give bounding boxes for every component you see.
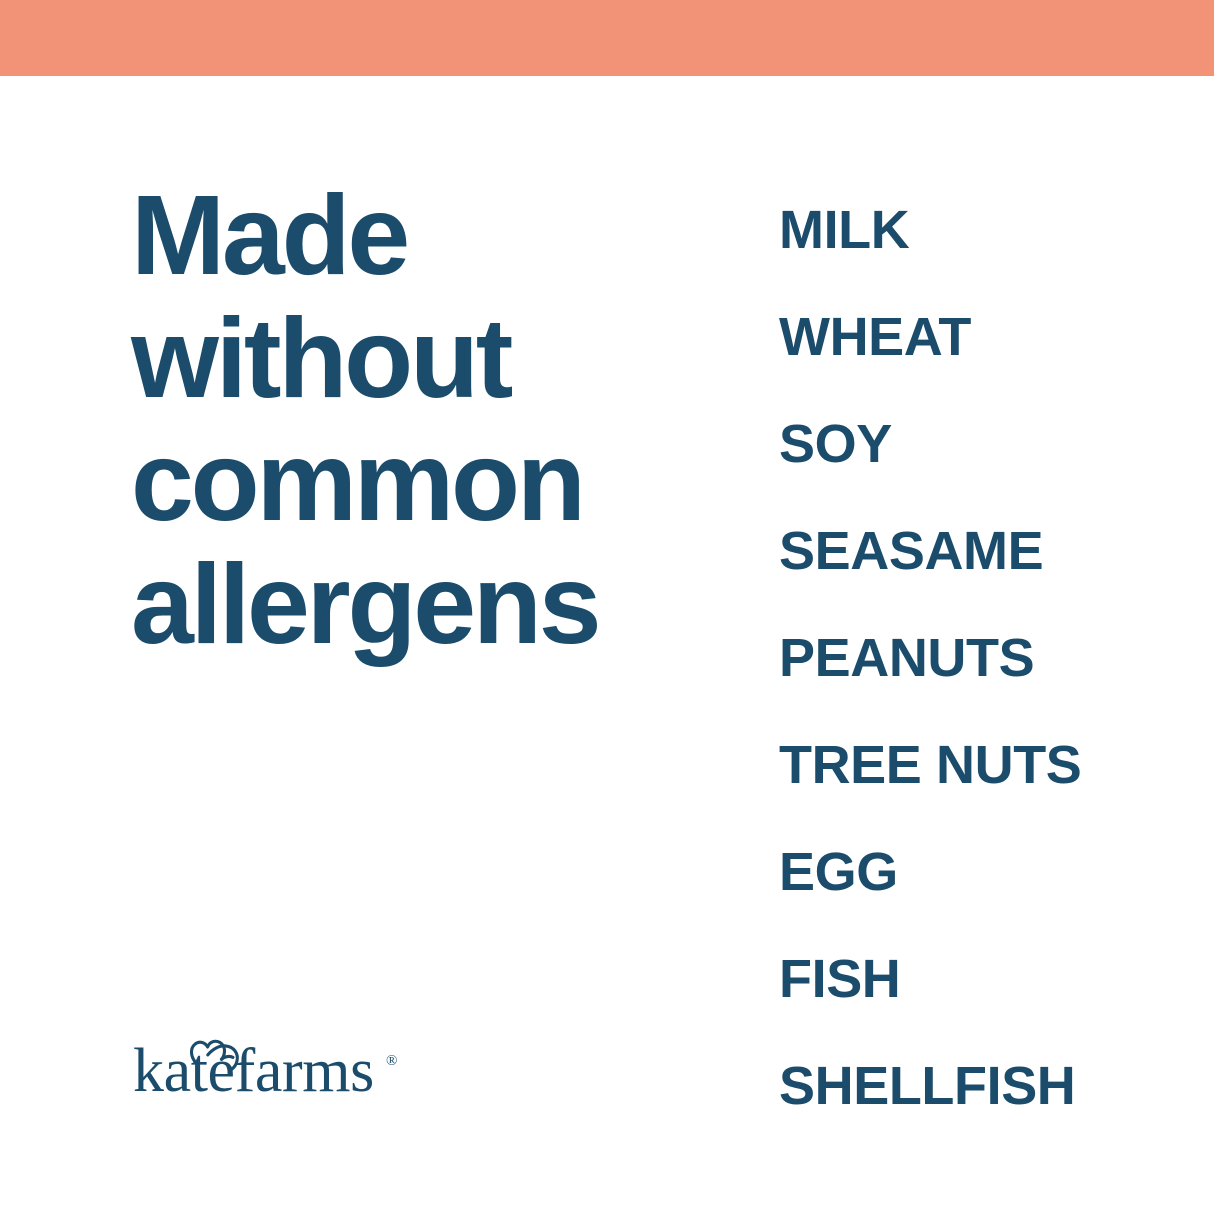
list-item: TREE NUTS	[779, 712, 1179, 819]
list-item: MILK	[779, 177, 1179, 284]
allergen-list: MILK WHEAT SOY SEASAME PEANUTS TREE NUTS…	[779, 177, 1179, 1140]
registered-trademark-icon: ®	[386, 1053, 397, 1069]
list-item: WHEAT	[779, 284, 1179, 391]
headline-line-2: without	[131, 297, 691, 420]
kate-farms-logo: katefarms ®	[133, 1030, 423, 1100]
headline-line-4: allergens	[131, 543, 691, 666]
logo-wordmark-text: katefarms	[133, 1037, 374, 1100]
headline-line-3: common	[131, 420, 691, 543]
list-item: SOY	[779, 391, 1179, 498]
coral-accent-band	[0, 0, 1214, 76]
kate-farms-wordmark-svg: katefarms ®	[133, 1030, 423, 1100]
allergen-info-graphic: Made without common allergens MILK WHEAT…	[0, 0, 1214, 1214]
headline-line-1: Made	[131, 174, 691, 297]
list-item: EGG	[779, 819, 1179, 926]
list-item: FISH	[779, 926, 1179, 1033]
page-title: Made without common allergens	[131, 174, 691, 666]
logo-word-farms: farms	[235, 1037, 374, 1100]
logo-word-kate: kate	[133, 1037, 235, 1100]
list-item: SHELLFISH	[779, 1033, 1179, 1140]
list-item: SEASAME	[779, 498, 1179, 605]
list-item: PEANUTS	[779, 605, 1179, 712]
